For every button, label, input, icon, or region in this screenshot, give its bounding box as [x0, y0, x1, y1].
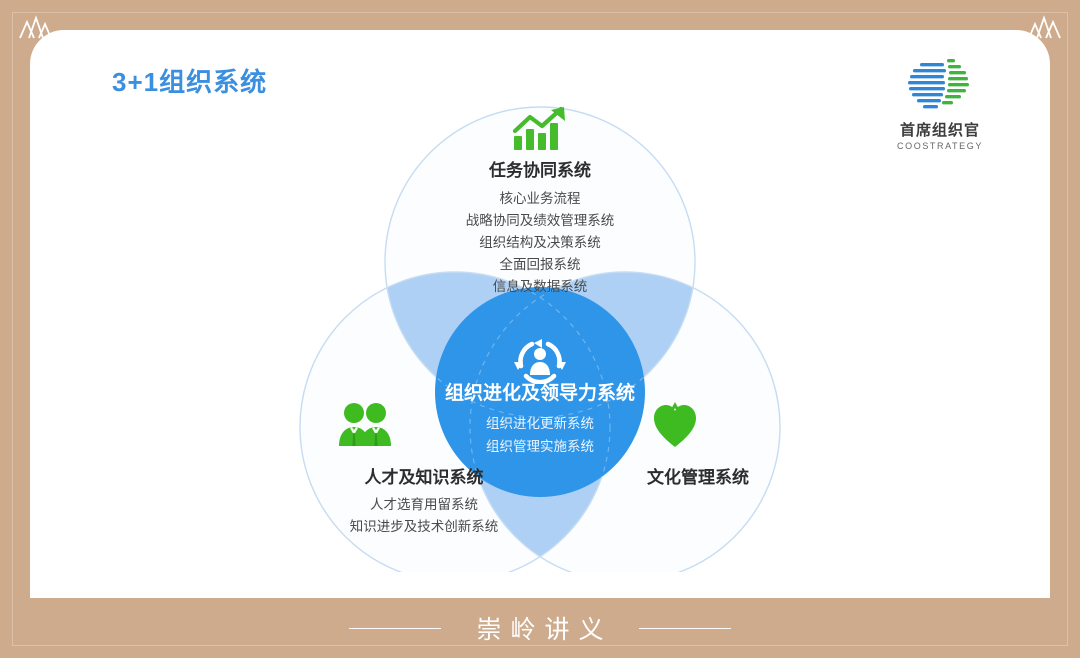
- footer-rule-right: [639, 628, 731, 629]
- venn-diagram: 任务协同系统 核心业务流程 战略协同及绩效管理系统 组织结构及决策系统 全面回报…: [290, 72, 790, 572]
- footer-band: 崇岭讲义: [0, 598, 1080, 658]
- footer-title: 崇岭讲义: [467, 610, 612, 646]
- globe-stripes-icon: [904, 55, 976, 117]
- logo-latin-name: COOSTRATEGY: [875, 141, 1005, 151]
- logo-name: 首席组织官: [875, 119, 1005, 140]
- mountain-peaks-icon: [1026, 14, 1066, 40]
- slide-root: 3+1组织系统: [0, 0, 1080, 658]
- venn-shapes: [290, 72, 790, 572]
- page-title: 3+1组织系统: [112, 62, 267, 99]
- footer-rule-left: [349, 628, 441, 629]
- mountain-peaks-icon: [14, 14, 54, 40]
- brand-logo: 首席组织官 COOSTRATEGY: [875, 55, 1005, 165]
